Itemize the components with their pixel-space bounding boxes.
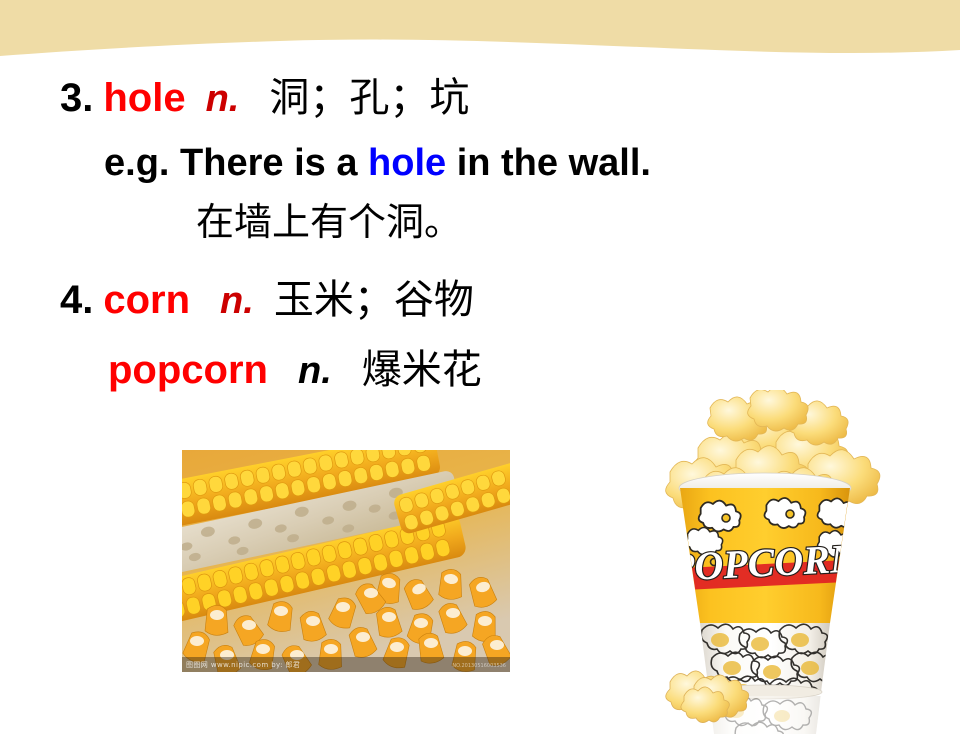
- entry-definition-hole: 洞；孔；坑: [269, 75, 469, 121]
- top-banner: [0, 0, 960, 62]
- corn-photo-watermark-id: NO.20130516003536: [452, 663, 506, 669]
- popcorn-photo-artwork: POPCORN: [640, 390, 890, 740]
- vocab-entry-hole: 3.holen.洞；孔；坑: [60, 78, 469, 118]
- bucket-label-group: POPCORN: [668, 535, 862, 590]
- entry-pos-corn: n.: [220, 280, 254, 322]
- example-text-before: There is a: [180, 142, 357, 184]
- example-sentence-hole: e.g. There is a hole in the wall.: [104, 144, 651, 182]
- entry-word-hole: hole: [103, 76, 185, 120]
- entry-definition-corn: 玉米；谷物: [274, 277, 474, 323]
- entry-word-corn: corn: [103, 278, 190, 322]
- vocab-entry-corn: 4.cornn.玉米；谷物: [60, 280, 474, 320]
- slide-content: 3.holen.洞；孔；坑 e.g. There is a hole in th…: [0, 58, 960, 720]
- banner-fill: [0, 0, 960, 56]
- corn-photo-watermark: 图图网 www.nipic.com by: 郎君: [186, 660, 300, 670]
- example-text-after: in the wall.: [457, 142, 651, 184]
- corn-photo: 图图网 www.nipic.com by: 郎君 NO.201305160035…: [182, 450, 510, 672]
- popcorn-photo: POPCORN: [640, 390, 890, 740]
- example-highlight-hole: hole: [368, 142, 446, 184]
- entry-number-3: 3.: [60, 76, 93, 120]
- entry-definition-popcorn: 爆米花: [362, 347, 482, 393]
- example-label: e.g.: [104, 142, 169, 184]
- entry-pos-popcorn: n.: [298, 350, 332, 392]
- entry-word-popcorn: popcorn: [108, 348, 268, 392]
- banner-wave-shape: [0, 0, 960, 62]
- entry-number-4: 4.: [60, 278, 93, 322]
- example-translation-hole: 在墙上有个洞。: [196, 203, 462, 241]
- corn-photo-artwork: [182, 450, 510, 672]
- entry-pos-hole: n.: [206, 78, 240, 120]
- vocab-entry-popcorn: popcornn.爆米花: [108, 350, 482, 390]
